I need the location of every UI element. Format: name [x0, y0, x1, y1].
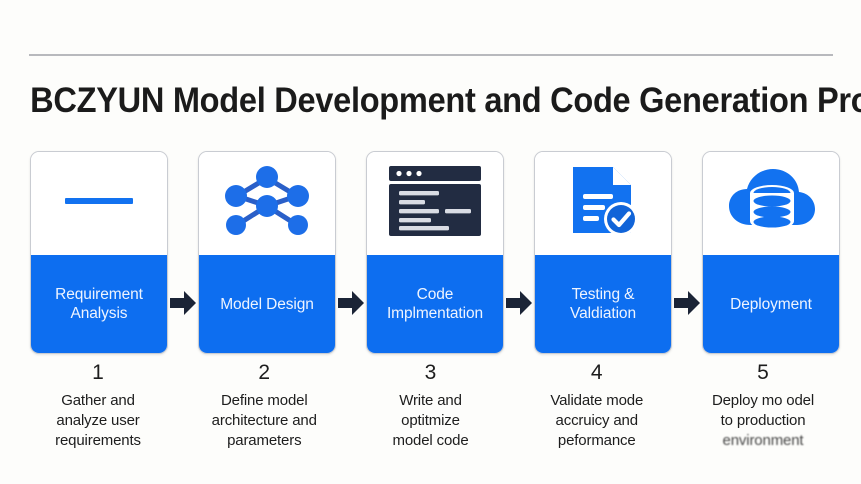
- step-3-desc-line-3: model code: [363, 431, 499, 451]
- process-steps-row: Requirement Analysis: [30, 151, 831, 354]
- step-5-desc-line-3: environment: [695, 431, 831, 451]
- step-2-icon-area: [199, 152, 335, 255]
- step-4-desc-line-2: accruicy and: [529, 411, 665, 431]
- step-5-desc-line-1: Deploy mo odel: [695, 391, 831, 411]
- step-4-icon-area: [535, 152, 671, 255]
- step-1-desc-line-3: requirements: [30, 431, 166, 451]
- document-check-icon: [563, 163, 643, 244]
- step-3-description: Write and optitmize model code: [363, 391, 499, 451]
- step-3-number: 3: [363, 360, 499, 386]
- step-4-desc-line-3: peformance: [529, 431, 665, 451]
- step-caption-2: 2 Define model architecture and paramete…: [196, 360, 332, 451]
- header-divider: [29, 54, 833, 56]
- flow-arrow-4: [672, 151, 702, 354]
- network-nodes-icon: [221, 163, 313, 244]
- step-2-number: 2: [196, 360, 332, 386]
- step-card-2[interactable]: Model Design: [198, 151, 336, 354]
- step-1-label-line-2: Analysis: [71, 305, 128, 322]
- step-5-description: Deploy mo odel to production environment: [695, 391, 831, 451]
- step-3-desc-line-1: Write and: [363, 391, 499, 411]
- step-1-icon-area: [31, 152, 167, 255]
- step-card-5[interactable]: Deployment: [702, 151, 840, 354]
- horizontal-bar-icon: [57, 171, 141, 236]
- flow-arrow-1: [168, 151, 198, 354]
- step-captions-row: 1 Gather and analyze user requirements 2…: [30, 360, 831, 451]
- step-2-label: Model Design: [199, 255, 335, 353]
- step-2-description: Define model architecture and parameters: [196, 391, 332, 451]
- step-3-desc-line-2: optitmize: [363, 411, 499, 431]
- step-5-desc-line-2: to production: [695, 411, 831, 431]
- step-4-desc-line-1: Validate mode: [529, 391, 665, 411]
- step-caption-3: 3 Write and optitmize model code: [363, 360, 499, 451]
- code-window-icon: [387, 164, 483, 243]
- step-5-label-line-1: Deployment: [730, 296, 812, 313]
- flow-arrow-3: [504, 151, 534, 354]
- step-2-desc-line-2: architecture and: [196, 411, 332, 431]
- flow-arrow-2: [336, 151, 366, 354]
- step-1-desc-line-2: analyze user: [30, 411, 166, 431]
- page-title: BCZYUN Model Development and Code Genera…: [30, 80, 831, 122]
- arrow-right-icon: [168, 289, 198, 317]
- step-1-number: 1: [30, 360, 166, 386]
- slide-canvas: BCZYUN Model Development and Code Genera…: [0, 0, 861, 484]
- step-card-3[interactable]: Code Implmentation: [366, 151, 504, 354]
- step-5-number: 5: [695, 360, 831, 386]
- step-5-icon-area: [703, 152, 839, 255]
- step-1-label-line-1: Requirement: [55, 286, 143, 303]
- arrow-right-icon: [336, 289, 366, 317]
- arrow-right-icon: [504, 289, 534, 317]
- step-caption-5: 5 Deploy mo odel to production environme…: [695, 360, 831, 451]
- step-2-desc-line-1: Define model: [196, 391, 332, 411]
- step-1-label: Requirement Analysis: [31, 255, 167, 353]
- step-3-label-line-1: Code: [417, 286, 454, 303]
- step-3-label-line-2: Implmentation: [387, 305, 483, 322]
- step-4-label-line-2: Valdiation: [570, 305, 636, 322]
- step-caption-1: 1 Gather and analyze user requirements: [30, 360, 166, 451]
- step-4-label: Testing & Valdiation: [535, 255, 671, 353]
- step-4-description: Validate mode accruicy and peformance: [529, 391, 665, 451]
- step-1-description: Gather and analyze user requirements: [30, 391, 166, 451]
- step-3-icon-area: [367, 152, 503, 255]
- cloud-database-icon: [725, 165, 817, 242]
- step-card-1[interactable]: Requirement Analysis: [30, 151, 168, 354]
- step-2-label-line-1: Model Design: [220, 296, 314, 313]
- step-5-label: Deployment: [703, 255, 839, 353]
- step-1-desc-line-1: Gather and: [30, 391, 166, 411]
- step-4-number: 4: [529, 360, 665, 386]
- step-4-label-line-1: Testing &: [572, 286, 635, 303]
- step-3-label: Code Implmentation: [367, 255, 503, 353]
- step-card-4[interactable]: Testing & Valdiation: [534, 151, 672, 354]
- arrow-right-icon: [672, 289, 702, 317]
- step-caption-4: 4 Validate mode accruicy and peformance: [529, 360, 665, 451]
- step-2-desc-line-3: parameters: [196, 431, 332, 451]
